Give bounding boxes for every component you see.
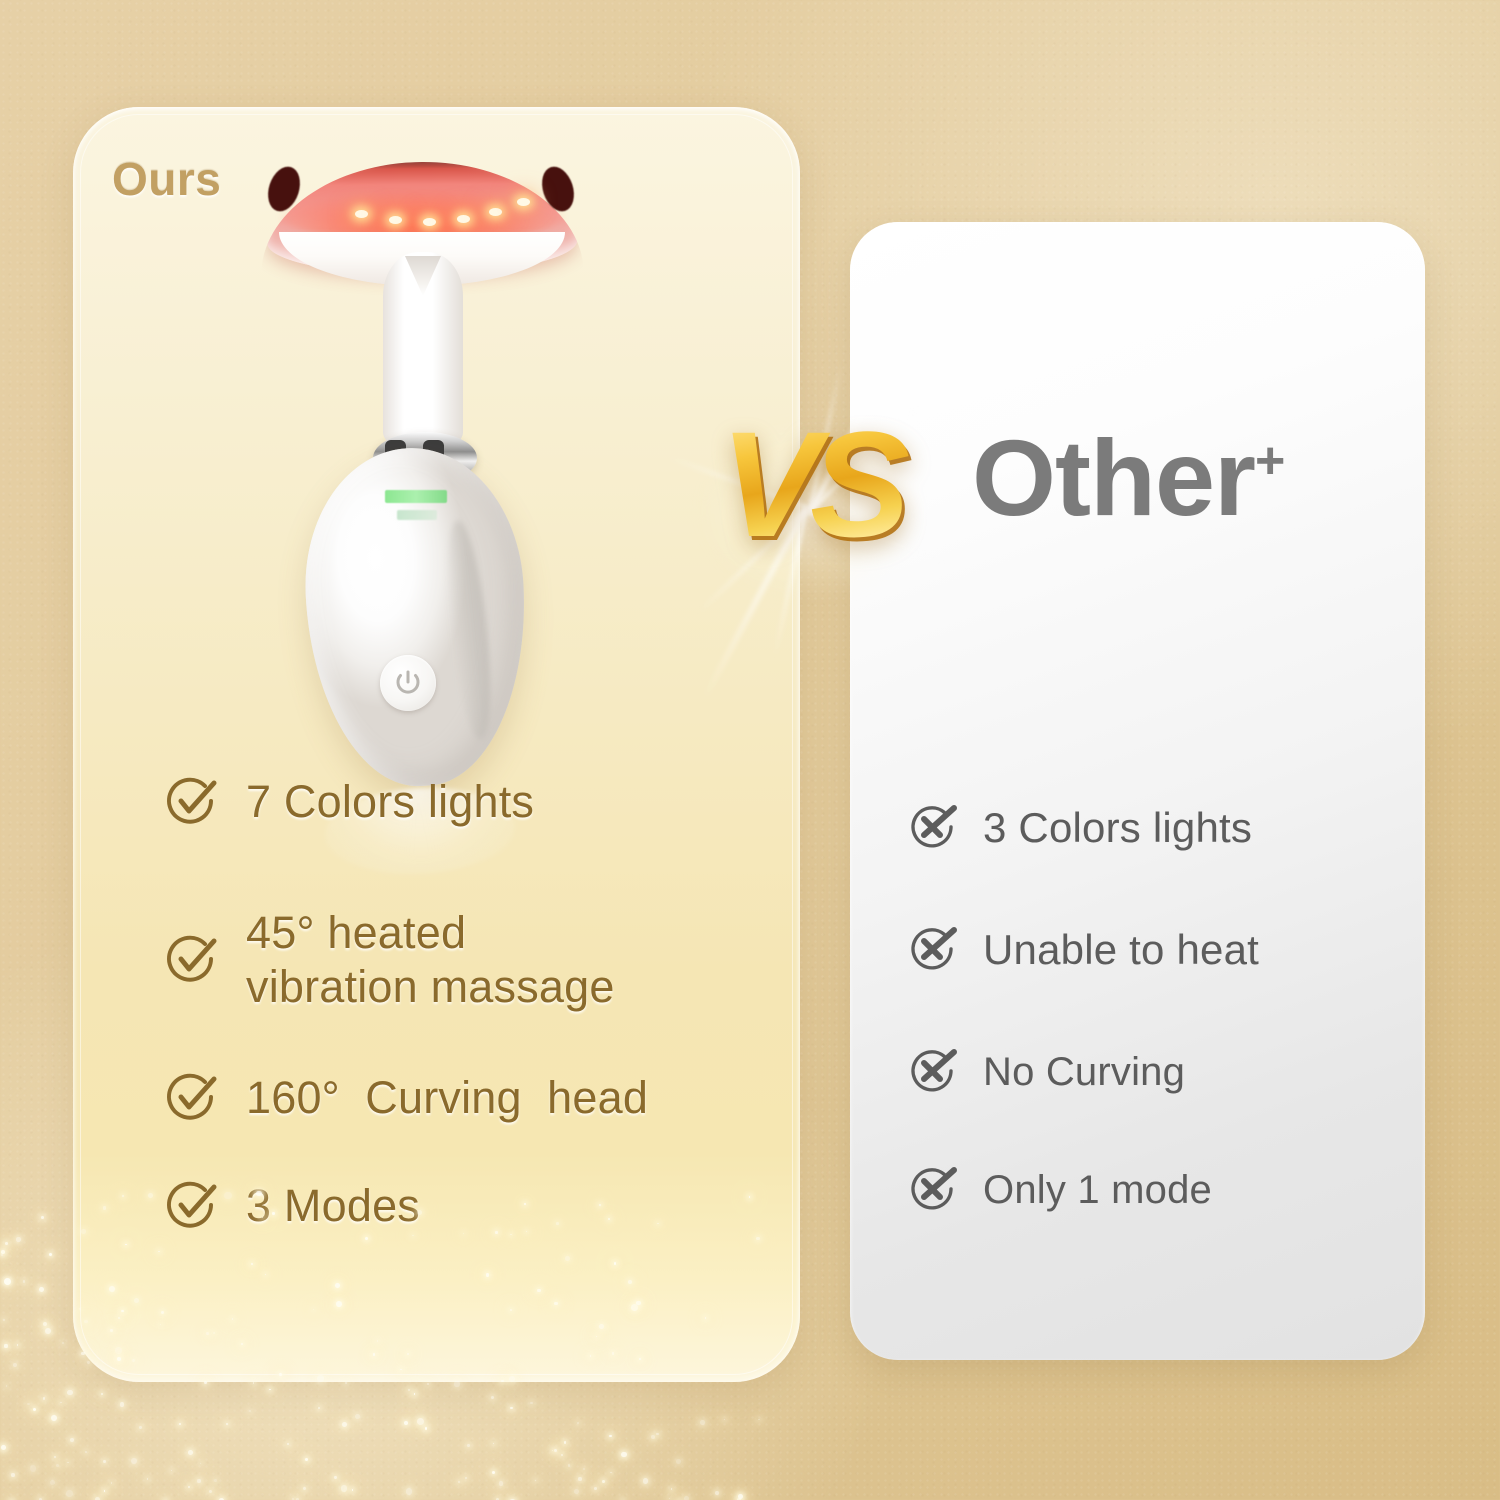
list-item-label: 7 Colors lights: [224, 775, 534, 829]
list-item: Unable to heat: [905, 922, 1405, 978]
check-circle-icon: [160, 770, 224, 834]
other-title-text: Other: [972, 417, 1255, 538]
x-circle-icon: [905, 1162, 961, 1218]
list-item: Only 1 mode: [905, 1162, 1405, 1218]
list-item: 45° heated vibration massage: [160, 906, 780, 1014]
list-item-label: 160° Curving head: [224, 1071, 648, 1125]
list-item-label: Unable to heat: [961, 926, 1259, 974]
list-item-label: 3 Colors lights: [961, 804, 1252, 852]
check-circle-icon: [160, 928, 224, 992]
list-item-label: 3 Modes: [224, 1179, 420, 1233]
list-item: 3 Modes: [160, 1174, 780, 1238]
check-circle-icon: [160, 1066, 224, 1130]
led-dot: [355, 210, 368, 218]
other-feature-list: 3 Colors lights Unable to heat No Curvin…: [905, 800, 1405, 1218]
ours-feature-list: 7 Colors lights 45° heated vibration mas…: [160, 770, 780, 1264]
list-item-label: 45° heated vibration massage: [224, 906, 615, 1014]
versus-label: VS: [660, 398, 960, 571]
product-image: [255, 160, 585, 700]
other-title: Other+: [972, 415, 1285, 540]
other-title-superscript: +: [1255, 432, 1285, 490]
device-led-display-secondary: [397, 510, 437, 520]
ours-title: Ours: [112, 152, 221, 206]
list-item-label: No Curving: [961, 1050, 1185, 1095]
led-dot: [517, 198, 530, 206]
list-item: 160° Curving head: [160, 1066, 780, 1130]
list-item-label: Only 1 mode: [961, 1168, 1212, 1213]
x-circle-icon: [905, 922, 961, 978]
led-dot: [489, 208, 502, 216]
check-circle-icon: [160, 1174, 224, 1238]
list-item: No Curving: [905, 1044, 1405, 1100]
x-circle-icon: [905, 1044, 961, 1100]
led-dot: [457, 215, 470, 223]
x-circle-icon: [905, 800, 961, 856]
device-power-button: [380, 655, 436, 711]
led-dot: [423, 218, 436, 226]
versus-badge: VS: [660, 360, 960, 660]
list-item: 7 Colors lights: [160, 770, 780, 834]
device-led-display: [385, 490, 447, 503]
led-dot: [389, 216, 402, 224]
list-item: 3 Colors lights: [905, 800, 1405, 856]
power-icon: [394, 668, 422, 698]
